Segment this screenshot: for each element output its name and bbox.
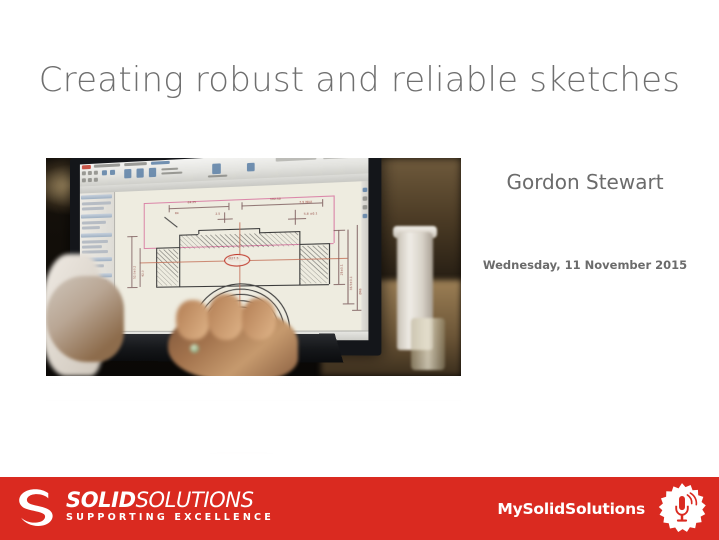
photo-reflection (46, 377, 461, 457)
photo-hand-right (168, 308, 298, 376)
cad-right-toolbar (361, 181, 368, 332)
s-swoosh-icon (14, 487, 58, 529)
logo-tagline: SUPPORTING EXCELLENCE (66, 512, 274, 524)
mysolidsolutions-brand[interactable]: MySolidSolutions (497, 477, 709, 540)
presenter-name: Gordon Stewart (470, 170, 700, 194)
presentation-date: Wednesday, 11 November 2015 (470, 258, 700, 272)
logo-word-light: SOLUTIONS (136, 488, 254, 512)
photo-hand-left (46, 276, 124, 362)
presentation-slide: Creating robust and reliable sketches (0, 0, 719, 540)
photo-frame: 64.25 102.50 7.5 MAX R4 2.5 (46, 158, 461, 376)
solid-solutions-wordmark: SOLIDSOLUTIONS SUPPORTING EXCELLENCE (66, 488, 274, 524)
logo-word-bold: SOLID (66, 488, 136, 512)
photo-jar (411, 318, 445, 370)
mysolidsolutions-label: MySolidSolutions (497, 500, 645, 518)
photo-scene: 64.25 102.50 7.5 MAX R4 2.5 (46, 158, 461, 376)
gear-microphone-icon (655, 482, 709, 536)
slide-title: Creating robust and reliable sketches (0, 60, 719, 100)
footer-bar: SOLIDSOLUTIONS SUPPORTING EXCELLENCE MyS… (0, 477, 719, 540)
slide-photo: 64.25 102.50 7.5 MAX R4 2.5 (46, 158, 461, 458)
